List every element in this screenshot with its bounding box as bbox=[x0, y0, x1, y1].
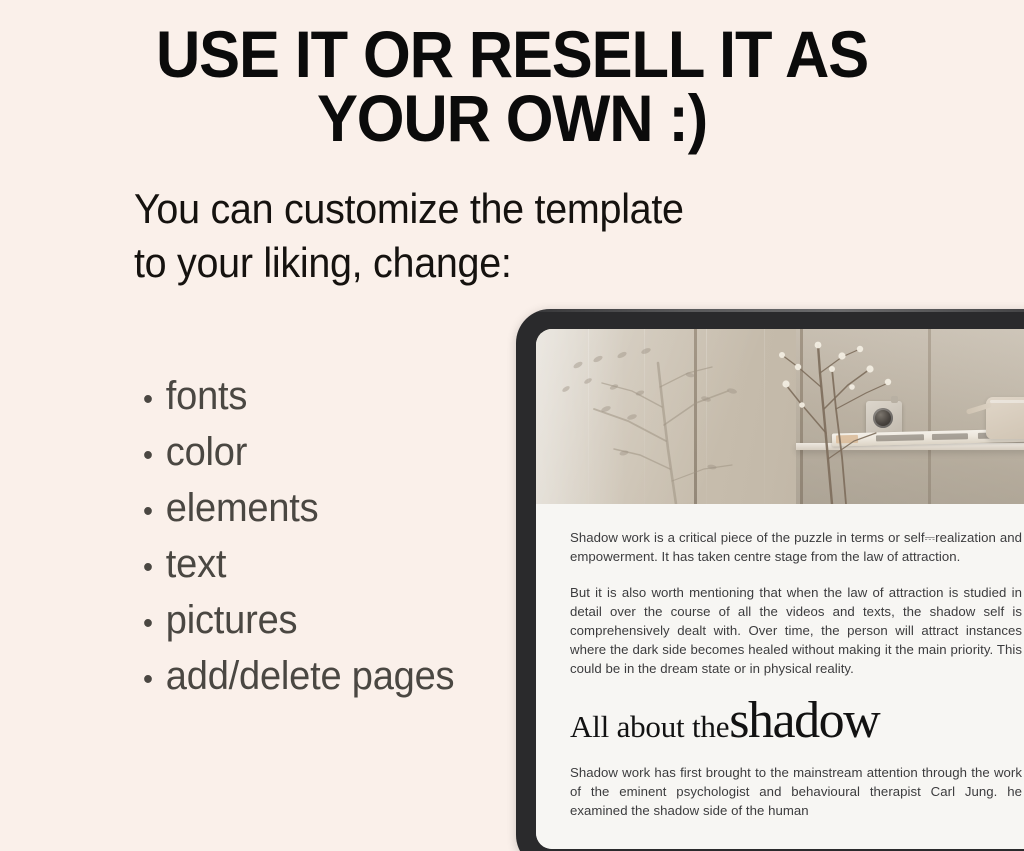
list-item: • text bbox=[143, 538, 542, 594]
headline-line-2: YOUR OWN :) bbox=[36, 86, 988, 150]
document-paragraph-1: Shadow work is a critical piece of the p… bbox=[570, 528, 1022, 566]
tablet-screen: Shadow work is a critical piece of the p… bbox=[536, 329, 1024, 849]
document-paragraph-2: But it is also worth mentioning that whe… bbox=[570, 583, 1022, 678]
list-item-label: pictures bbox=[166, 594, 298, 646]
list-item: • pictures bbox=[143, 594, 542, 650]
list-item: • add/delete pages bbox=[143, 650, 542, 706]
branch-shadow-artwork bbox=[536, 329, 1024, 504]
list-item: • elements bbox=[143, 482, 542, 538]
bullet-dot-icon: • bbox=[143, 430, 166, 482]
heading-prefix: All about the bbox=[570, 709, 729, 744]
document-paragraph-3: Shadow work has first brought to the mai… bbox=[570, 763, 1022, 820]
list-item: • color bbox=[143, 426, 542, 482]
tablet-device-mockup: Shadow work is a critical piece of the p… bbox=[516, 309, 1024, 851]
customization-bullet-list: • fonts • color • elements • text • pict… bbox=[143, 370, 563, 706]
document-hero-photo bbox=[536, 329, 1024, 504]
bullet-dot-icon: • bbox=[143, 486, 166, 538]
list-item-label: color bbox=[166, 426, 247, 478]
document-page: Shadow work is a critical piece of the p… bbox=[536, 504, 1024, 849]
bullet-dot-icon: • bbox=[143, 542, 166, 594]
list-item-label: add/delete pages bbox=[166, 650, 455, 702]
heading-emphasis: shadow bbox=[729, 692, 879, 749]
document-section-heading: All about theshadow bbox=[570, 695, 1022, 747]
list-item-label: fonts bbox=[166, 370, 247, 422]
subtitle-line-2: to your liking, change: bbox=[134, 236, 736, 290]
page-subtitle: You can customize the template to your l… bbox=[134, 182, 736, 290]
subtitle-line-1: You can customize the template bbox=[134, 182, 736, 236]
page-headline: USE IT OR RESELL IT AS YOUR OWN :) bbox=[36, 22, 988, 150]
headline-line-1: USE IT OR RESELL IT AS bbox=[36, 22, 988, 86]
list-item: • fonts bbox=[143, 370, 542, 426]
bullet-dot-icon: • bbox=[143, 654, 166, 706]
bullet-dot-icon: • bbox=[143, 374, 166, 426]
list-item-label: text bbox=[166, 538, 227, 590]
list-item-label: elements bbox=[166, 482, 319, 534]
bullet-dot-icon: • bbox=[143, 598, 166, 650]
